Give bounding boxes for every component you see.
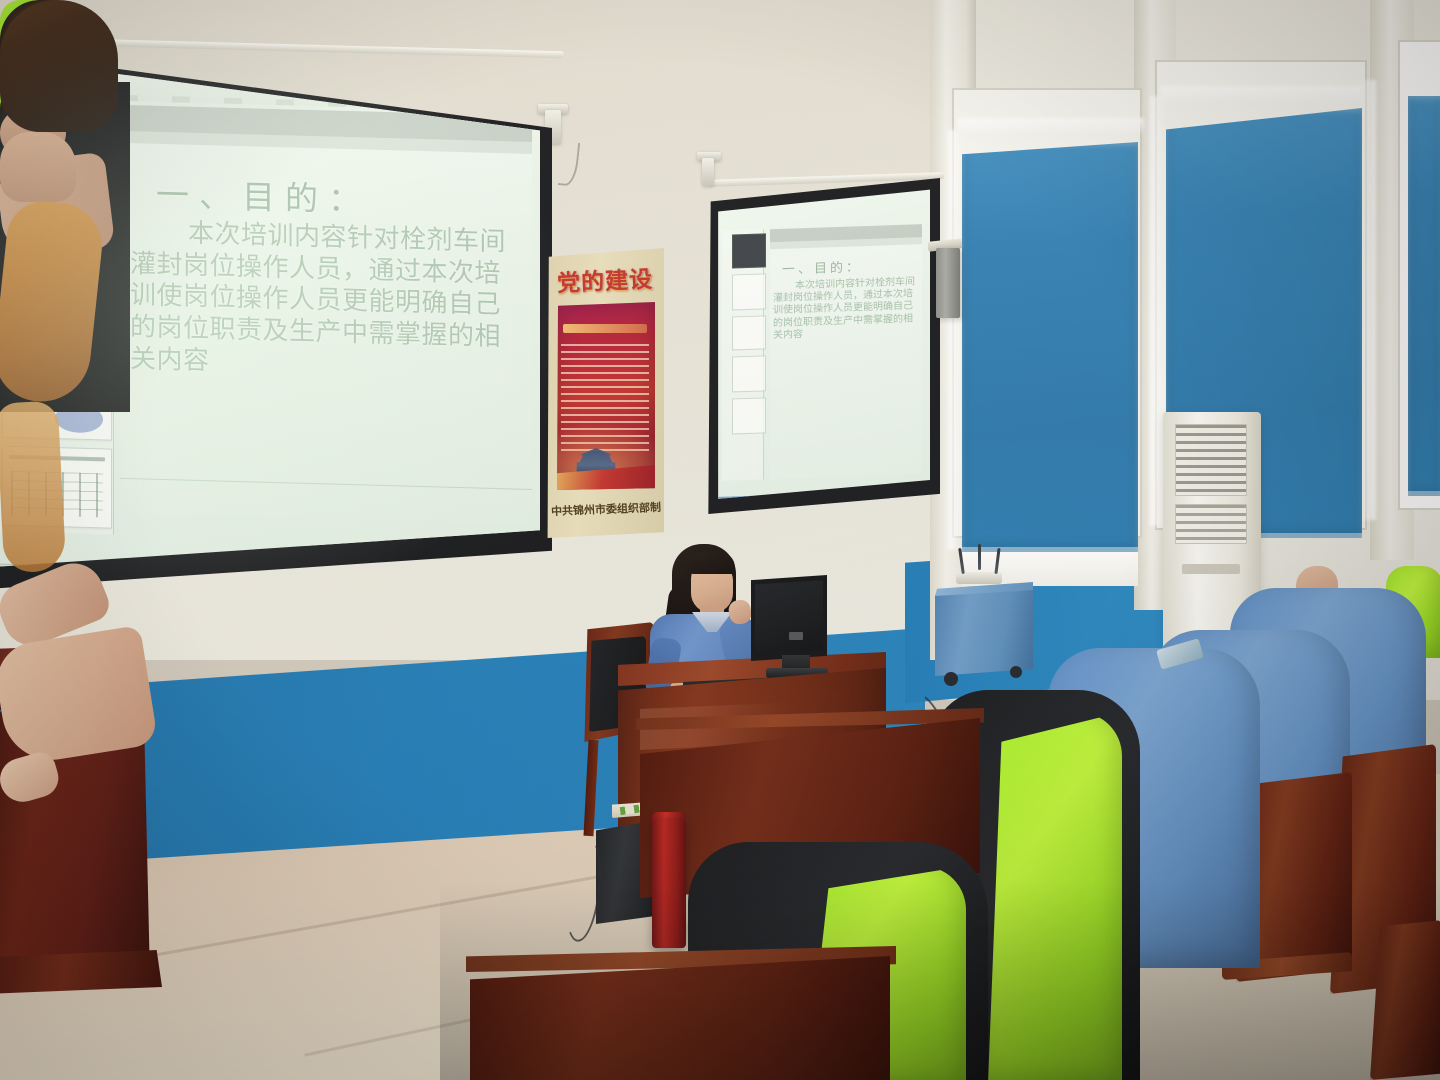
slide-title: 一、目的： xyxy=(156,168,371,222)
air-conditioner-panel[interactable] xyxy=(1182,564,1240,574)
window-blind[interactable] xyxy=(962,142,1138,552)
training-room-photo: 一、目的： 本次培训内容针对栓剂车间灌封岗位操作人员，通过本次培训使岗位操作人员… xyxy=(0,0,1440,1080)
projection-screen-secondary: 一、目的： 本次培训内容针对栓剂车间灌封岗位操作人员，通过本次培训使岗位操作人员… xyxy=(716,188,930,502)
antenna-icon xyxy=(978,544,981,570)
audience-arm-left xyxy=(0,625,158,767)
air-conditioner-vent-icon xyxy=(1175,504,1247,544)
slide-thumbnail[interactable] xyxy=(732,315,766,350)
poster-heading: 党的建设 xyxy=(545,253,665,304)
monitor-screen xyxy=(755,580,823,654)
audience-chair[interactable] xyxy=(1370,920,1440,1080)
window-light-glow xyxy=(1160,86,1362,102)
slide-title-mirror: 一、目的： xyxy=(782,256,862,278)
powerpoint-window-mirror: 一、目的： 本次培训内容针对栓剂车间灌封岗位操作人员，通过本次培训使岗位操作人员… xyxy=(716,190,930,502)
audience-head xyxy=(0,0,118,132)
slide-thumbnail[interactable] xyxy=(732,397,766,434)
cart-wheel xyxy=(1010,666,1022,678)
monitor-brand-logo xyxy=(789,632,803,640)
audience-ponytail xyxy=(0,400,66,573)
red-thermos[interactable] xyxy=(652,818,686,948)
slide-body-text: 本次培训内容针对栓剂车间灌封岗位操作人员，通过本次培训使岗位操作人员更能明确自己… xyxy=(130,217,526,386)
cart-wheel xyxy=(944,672,958,686)
window-blind[interactable] xyxy=(1408,96,1440,496)
slide-body-text-mirror: 本次培训内容针对栓剂车间灌封岗位操作人员，通过本次培训使岗位操作人员更能明确自己… xyxy=(773,276,921,342)
blue-equipment-cart xyxy=(935,588,1033,676)
audience-neck xyxy=(0,132,76,202)
audience-ponytail xyxy=(0,198,106,407)
window-light-glow xyxy=(958,118,1144,134)
wall-speaker xyxy=(936,248,960,318)
slide-thumbnail[interactable] xyxy=(732,233,766,268)
poster-title-bar xyxy=(563,324,647,333)
safety-vest xyxy=(988,712,1122,1080)
presenter-fringe xyxy=(687,552,735,574)
slide-thumbnail-rail[interactable] xyxy=(722,229,764,480)
window-light-glow xyxy=(948,130,962,550)
poster-credit-line: 中共锦州市委组织部制 xyxy=(550,496,663,522)
slide-thumbnail[interactable] xyxy=(732,273,766,310)
screen-mount-bracket xyxy=(702,158,714,186)
slide-thumbnail[interactable] xyxy=(732,355,766,392)
propaganda-poster xyxy=(555,302,655,490)
slide-footer-rule xyxy=(120,478,532,490)
active-slide[interactable]: 一、目的： 本次培训内容针对栓剂车间灌封岗位操作人员，通过本次培训使岗位操作人员… xyxy=(120,105,532,524)
active-slide-mirror: 一、目的： 本次培训内容针对栓剂车间灌封岗位操作人员，通过本次培训使岗位操作人员… xyxy=(770,224,922,479)
air-conditioner-vent-icon xyxy=(1175,424,1247,496)
list-item xyxy=(0,0,150,800)
lectern-base xyxy=(0,950,162,994)
